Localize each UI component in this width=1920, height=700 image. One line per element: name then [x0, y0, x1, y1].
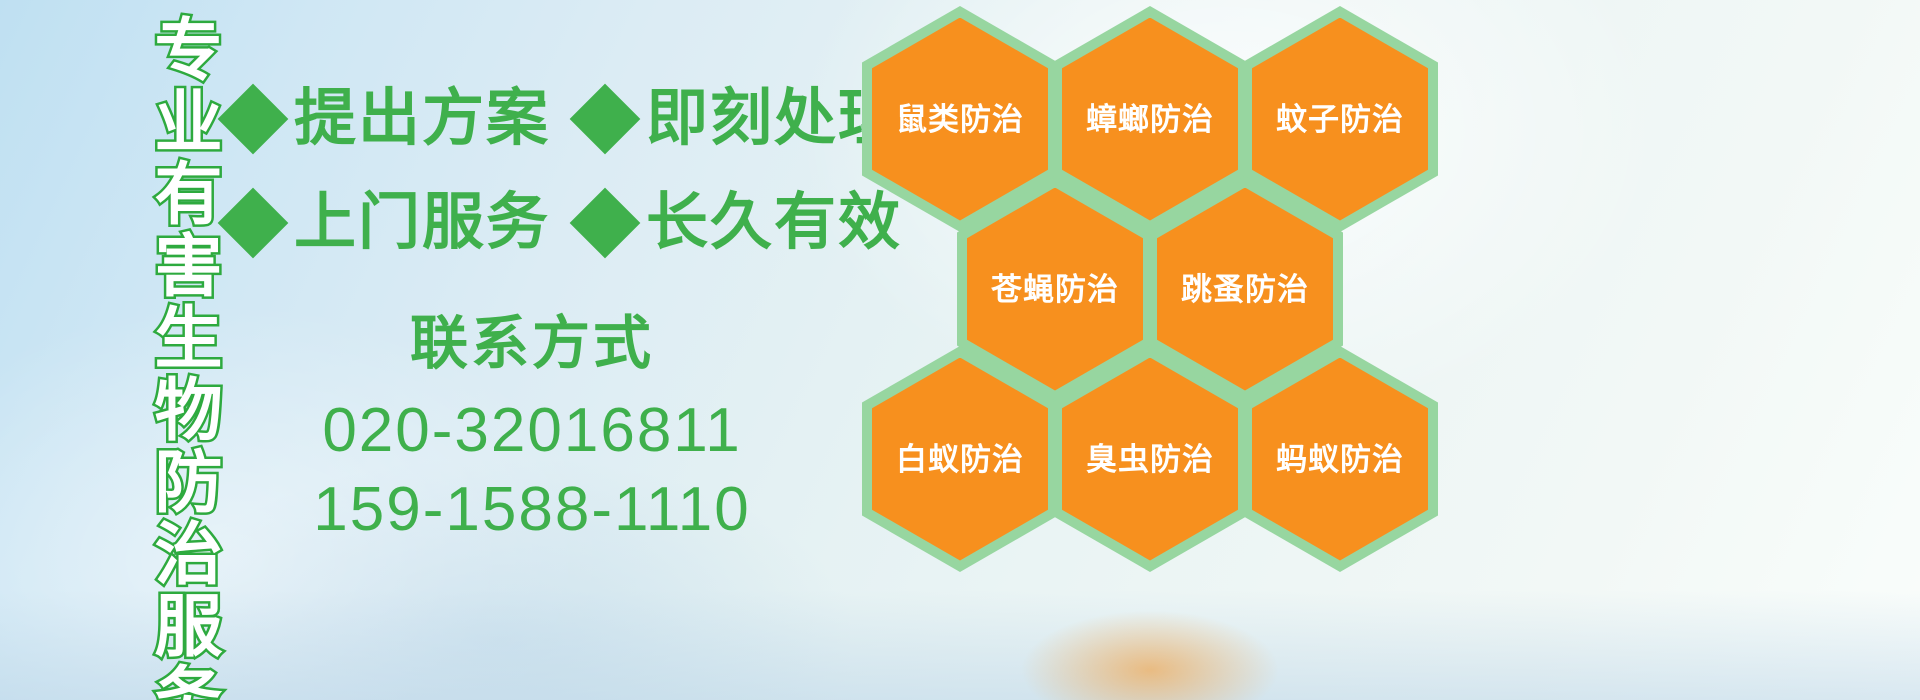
- hex-inner: 蟑螂防治: [1062, 18, 1238, 221]
- hex-inner: 蚊子防治: [1252, 18, 1428, 221]
- background-orange-blur: [1020, 610, 1280, 700]
- diamond-icon: [218, 188, 289, 259]
- feature-row-2: 上门服务 长久有效: [228, 192, 902, 254]
- hex-label: 蟑螂防治: [1086, 104, 1214, 135]
- feature-item-propose-plan: 提出方案: [228, 88, 550, 150]
- hex-inner: 臭虫防治: [1062, 358, 1238, 561]
- hex-label: 蚂蚁防治: [1276, 444, 1404, 475]
- hex-inner: 跳蚤防治: [1157, 188, 1333, 391]
- feature-item-onsite-service: 上门服务: [228, 192, 550, 254]
- hex-label: 白蚁防治: [896, 444, 1024, 475]
- feature-row-1: 提出方案 即刻处理: [228, 88, 902, 150]
- background-bottom-haze: [0, 590, 1920, 700]
- contact-block: 联系方式 020-32016811 159-1588-1110: [252, 312, 812, 550]
- feature-label: 提出方案: [294, 88, 550, 150]
- feature-label: 上门服务: [294, 192, 550, 254]
- phone-number-mobile[interactable]: 159-1588-1110: [252, 470, 812, 549]
- diamond-icon: [218, 84, 289, 155]
- feature-item-immediate-handling: 即刻处理: [580, 88, 902, 150]
- vertical-headline: 专业有害生物防治服务: [112, 14, 216, 700]
- hex-inner: 蚂蚁防治: [1252, 358, 1428, 561]
- pest-control-banner: 专业有害生物防治服务 提出方案 即刻处理 上门服务 长久有效 联系方式 020-…: [0, 0, 1920, 700]
- hex-inner: 白蚁防治: [872, 358, 1048, 561]
- hex-label: 鼠类防治: [896, 104, 1024, 135]
- contact-heading: 联系方式: [252, 312, 812, 377]
- hex-inner: 鼠类防治: [872, 18, 1048, 221]
- hex-label: 蚊子防治: [1276, 104, 1404, 135]
- feature-item-long-lasting: 长久有效: [580, 192, 902, 254]
- hex-label: 跳蚤防治: [1181, 274, 1309, 305]
- service-honeycomb: 鼠类防治 蟑螂防治 蚊子防治 苍蝇防治 跳蚤防治 白蚁防治: [858, 0, 1478, 556]
- hex-inner: 苍蝇防治: [967, 188, 1143, 391]
- hex-label: 苍蝇防治: [991, 274, 1119, 305]
- diamond-icon: [570, 84, 641, 155]
- hex-label: 臭虫防治: [1086, 444, 1214, 475]
- diamond-icon: [570, 188, 641, 259]
- phone-number-landline[interactable]: 020-32016811: [252, 391, 812, 470]
